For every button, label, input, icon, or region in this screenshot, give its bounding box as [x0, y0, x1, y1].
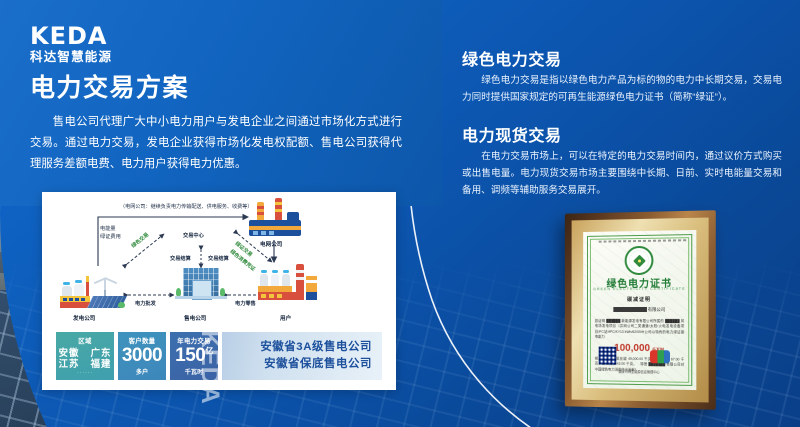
diagram-label-greencert-fee: 绿证费用 [100, 233, 121, 240]
diagram-label-wholesale: 电力批发 [135, 300, 156, 307]
stat-region-more: ······ [77, 370, 93, 376]
intro-paragraph: 售电公司代理广大中小电力用户与发电企业之间通过市场化方式进行交易。通过电力交易，… [30, 112, 402, 174]
stat-customers: 客户数量 3000 多户 [118, 332, 166, 380]
stat-customers-unit: 多户 [136, 367, 148, 376]
stat-region-values: 安徽 广东 江苏 福建 [59, 347, 112, 369]
badge-line-1: 安徽省3A级售电公司 [260, 339, 372, 356]
certificate-kind: 碳减证明 [583, 296, 696, 303]
logo-subtitle: 科达智慧能源 [30, 51, 112, 64]
section-1-body: 绿色电力交易是指以绿色电力产品为标的物的电力中长期交易，交易电力同时提供国家规定… [462, 72, 782, 106]
certificate-qr-icon [599, 347, 617, 365]
diagram-label-trading-center: 交易中心 [183, 232, 204, 239]
icon-retail-company [175, 264, 227, 300]
diagram-node-retailer: 售电公司 [184, 314, 206, 322]
icon-generation-plant [60, 270, 126, 310]
region-value-2: 广东 [91, 347, 112, 358]
stat-badges: KEDA 安徽省3A级售电公司 安徽省保底售电公司 [222, 332, 382, 380]
diagram-arrows [42, 192, 396, 332]
logo-wordmark: KEDA [30, 24, 112, 48]
certificate-company-suffix: 有限公司 [648, 307, 666, 312]
icon-grid-company [249, 198, 307, 238]
green-certificate: 绿色电力证书 GREEN ELECTRICITY CERTIFICATE 碳减证… [565, 210, 716, 410]
region-value-1: 安徽 [59, 347, 80, 358]
watermark-keda: KEDA [195, 330, 224, 405]
diagram-node-user: 用户 [280, 314, 291, 322]
redaction-bar [614, 307, 648, 312]
section-2-body: 在电力交易市场上，可以在特定的电力交易时间内，通过议价方式购买或出售电量。电力现… [462, 148, 782, 199]
certificate-issuer-logo-icon [650, 350, 670, 363]
diagram-label-retail: 电力零售 [235, 300, 256, 307]
region-value-4: 福建 [91, 358, 112, 369]
diagram-label-settle-right: 交易结算 [208, 255, 229, 262]
content-card: （电网公司：继续负责电力传输配送、供电服务、收费等） [42, 192, 396, 390]
certificate-company: 有限公司 [583, 307, 696, 313]
stats-strip: 区域 安徽 广东 江苏 福建 ······ 客户数量 3000 多户 年电力交易 [56, 332, 382, 380]
certificate-subtitle: GREEN ELECTRICITY CERTIFICATE [583, 287, 696, 292]
certificate-body: 兹证明 ██████ 新能源发电有限公司所属的 ██████ 风电场发电项目（并… [595, 319, 684, 340]
certificate-gold-mat: 绿色电力证书 GREEN ELECTRICITY CERTIFICATE 碳减证… [572, 218, 709, 403]
diagram-label-energy: 电能量 [100, 225, 116, 232]
stat-region: 区域 安徽 广东 江苏 福建 ······ [56, 332, 114, 380]
power-trading-diagram: （电网公司：继续负责电力传输配送、供电服务、收费等） [42, 192, 396, 332]
certificate-number-value: 100,000 [614, 343, 650, 354]
badge-line-2: 安徽省保底售电公司 [264, 356, 372, 373]
certificate-wood-frame: 绿色电力证书 GREEN ELECTRICITY CERTIFICATE 碳减证… [565, 210, 716, 410]
stat-customers-caption: 客户数量 [129, 336, 156, 345]
slide-root: KEDA 科达智慧能源 电力交易方案 售电公司代理广大中小电力用户与发电企业之间… [0, 0, 800, 427]
certificate-paper: 绿色电力证书 GREEN ELECTRICITY CERTIFICATE 碳减证… [583, 230, 696, 390]
stat-customers-value: 3000 [122, 347, 162, 365]
diagram-label-settle-left: 交易结算 [170, 255, 191, 262]
section-2-heading: 电力现货交易 [462, 122, 562, 146]
diagram-node-generation: 发电公司 [73, 314, 95, 322]
diagram-node-grid: 电网公司 [260, 240, 282, 248]
stat-region-caption: 区域 [78, 336, 91, 345]
page-title: 电力交易方案 [30, 76, 189, 101]
icon-user-factory [258, 262, 318, 302]
certificate-emblem-icon [625, 246, 654, 275]
section-1-heading: 绿色电力交易 [462, 46, 562, 70]
brand-logo: KEDA 科达智慧能源 [30, 24, 112, 64]
region-value-3: 江苏 [59, 358, 80, 369]
